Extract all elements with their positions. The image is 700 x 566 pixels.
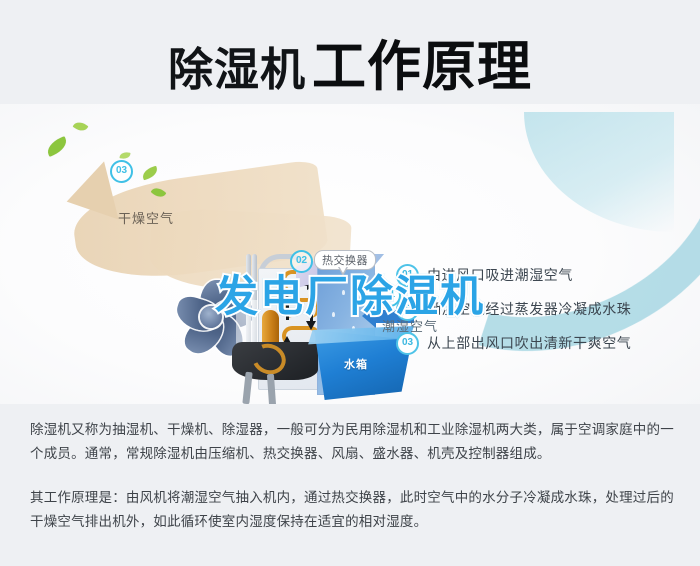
flow-arrow-stem: [286, 302, 289, 320]
leaf-icon: [141, 166, 159, 180]
page-title: 除湿机工作原理: [0, 22, 700, 101]
page-title-part2: 工作原理: [312, 37, 532, 97]
flow-arrow-up-icon: [282, 294, 292, 303]
badge-03-dry-air: 03: [110, 160, 133, 183]
leaf-icon: [119, 151, 130, 160]
badge-02-heat-exchanger: 02: [290, 250, 313, 273]
dry-air-label: 干燥空气: [118, 208, 174, 227]
leaf-icon: [44, 136, 69, 157]
water-tank-label: 水箱: [344, 356, 368, 372]
leaf-icon: [73, 119, 89, 134]
fan-hub: [200, 306, 222, 328]
infographic-page: 除湿机工作原理: [0, 0, 700, 566]
page-title-part1: 除湿机: [168, 44, 306, 95]
description-section: 除湿机又称为抽湿机、干燥机、除湿器，一般可分为民用除湿机和工业除湿机两大类，属于…: [30, 418, 676, 554]
description-paragraph-1: 除湿机又称为抽湿机、干燥机、除湿器，一般可分为民用除湿机和工业除湿机两大类，属于…: [30, 418, 676, 466]
process-steps-list: 01 由进风口吸进潮湿空气 02 潮湿空气经过蒸发器冷凝成水珠 03 从上部出风…: [396, 258, 696, 360]
description-paragraph-2: 其工作原理是：由风机将潮湿空气抽入机内，通过热交换器，此时空气中的水分子冷凝成水…: [30, 486, 676, 534]
list-item: 03 从上部出风口吹出清新干爽空气: [396, 326, 696, 360]
list-item: 01 由进风口吸进潮湿空气: [396, 258, 696, 292]
step-text: 由进风口吸进潮湿空气: [427, 265, 573, 285]
step-text: 潮湿空气经过蒸发器冷凝成水珠: [427, 299, 631, 319]
step-number-badge: 02: [396, 298, 419, 321]
callout-pointer-inner-icon: [339, 266, 347, 273]
step-text: 从上部出风口吹出清新干爽空气: [427, 333, 631, 353]
flow-arrow-stem: [310, 304, 313, 322]
step-number-badge: 03: [396, 332, 419, 355]
list-item: 02 潮湿空气经过蒸发器冷凝成水珠: [396, 292, 696, 326]
step-number-badge: 01: [396, 264, 419, 287]
inlet-airflow-arrowhead-icon: [362, 304, 376, 328]
flow-arrow-down-icon: [306, 321, 316, 330]
